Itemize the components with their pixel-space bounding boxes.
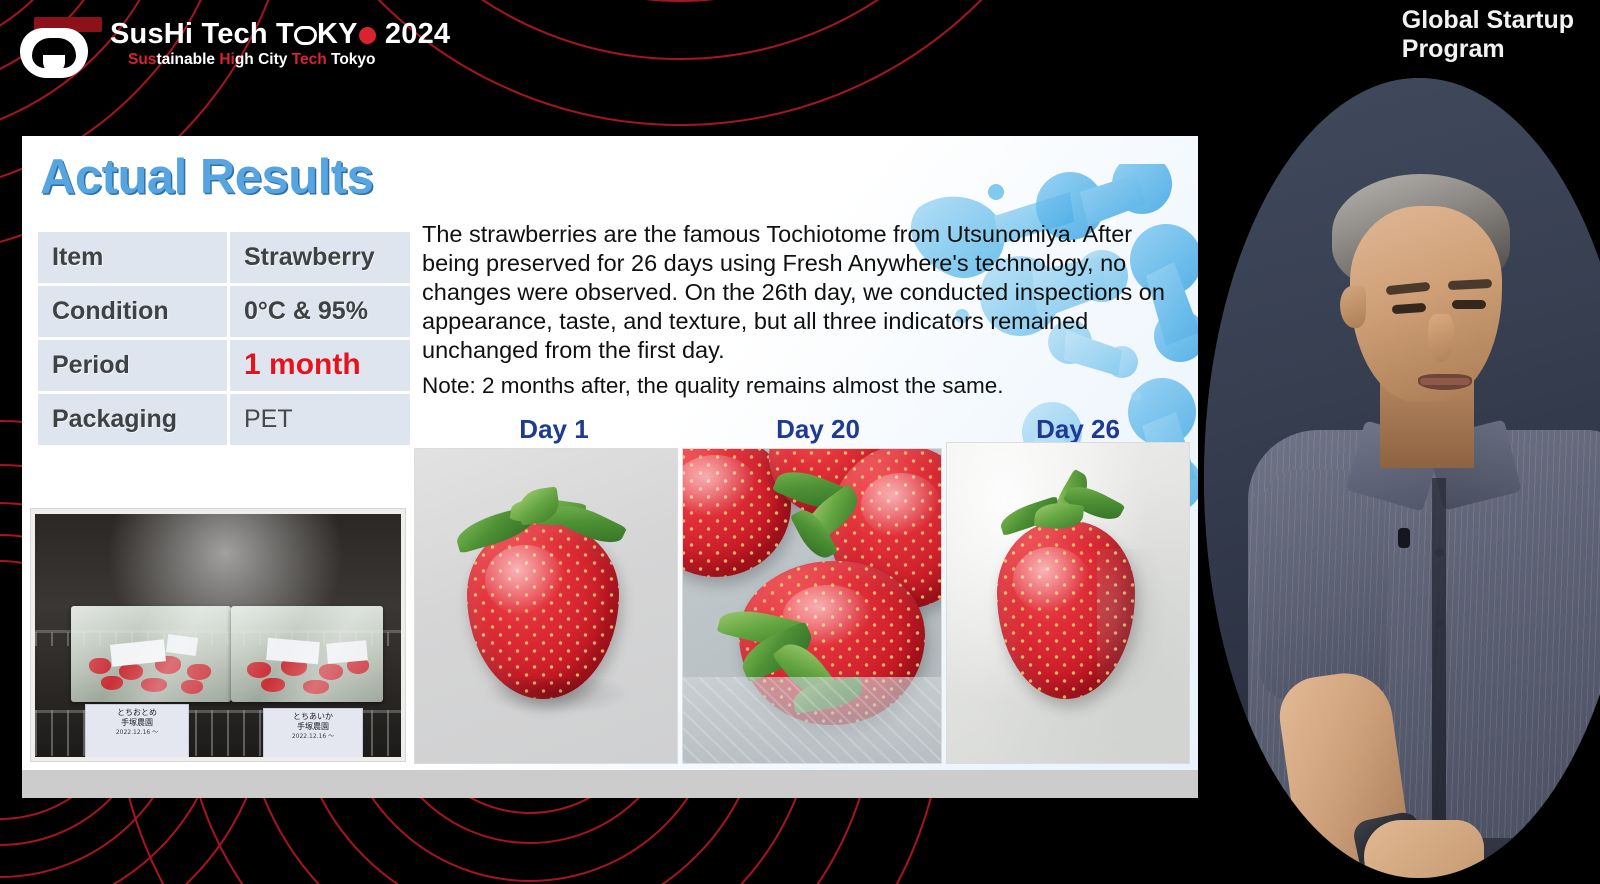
logo-sub-3: gh City [235, 51, 292, 68]
day-label-1: Day 1 [422, 414, 686, 445]
fridge-label-right: とちあいか 手塚農園 2022.12.16 ～ [263, 708, 363, 757]
logo-sub-4: Tech [292, 51, 331, 68]
program-title: Global Startup Program [1402, 6, 1574, 64]
logo-title-part2: KY [317, 18, 358, 50]
table-row: Item Strawberry [38, 232, 410, 283]
table-row: Packaging PET [38, 394, 410, 445]
presenter-video [1204, 78, 1600, 884]
presenter-shirt-placket [1432, 478, 1446, 858]
presenter-sleeve [1260, 470, 1388, 700]
sushi-tech-goggle-logo-icon [20, 28, 88, 78]
presentation-slide: Actual Results Item Strawberry Condition… [22, 136, 1198, 798]
spec-value-packaging: PET [230, 394, 410, 445]
presenter-eye-right [1452, 300, 1486, 309]
spec-value-condition: 0°C & 95% [230, 286, 410, 337]
spec-value-period: 1 month [230, 340, 410, 391]
day-label-26: Day 26 [946, 414, 1198, 445]
logo-sub-0: Sus [128, 51, 156, 68]
logo-title: SusHi Tech TKY 2024 [110, 18, 450, 50]
day1-photo [414, 448, 678, 764]
presenter-hand [1364, 820, 1484, 884]
day20-photo [682, 448, 942, 764]
shirt-button [1435, 690, 1444, 699]
screen: SusHi Tech TKY 2024 Sustainable High Cit… [0, 0, 1600, 884]
slide-title: Actual Results [40, 149, 373, 205]
program-title-line2: Program [1402, 35, 1574, 64]
event-logo: SusHi Tech TKY 2024 Sustainable High Cit… [18, 8, 418, 84]
logo-red-dot-icon [359, 27, 376, 44]
logo-text-block: SusHi Tech TKY 2024 Sustainable High Cit… [110, 18, 450, 69]
logo-subtitle: Sustainable High City Tech Tokyo [128, 51, 450, 69]
logo-sub-5: Tokyo [331, 51, 376, 68]
fridge-label-left: とちおとめ 手塚農園 2022.12.16 ～ [85, 704, 189, 757]
spec-table: Item Strawberry Condition 0°C & 95% Peri… [38, 232, 410, 448]
presenter-nose [1428, 314, 1454, 362]
slide-note: Note: 2 months after, the quality remain… [422, 372, 1190, 400]
lapel-microphone-icon [1398, 528, 1410, 548]
spec-key-condition: Condition [38, 286, 227, 337]
slide-content-area: Actual Results Item Strawberry Condition… [22, 136, 1198, 770]
day26-photo [946, 442, 1190, 764]
logo-title-part1: SusHi Tech T [110, 18, 294, 50]
day-label-20: Day 20 [686, 414, 950, 445]
spec-key-item: Item [38, 232, 227, 283]
logo-sub-1: tainable [156, 51, 219, 68]
slide-body-paragraph: The strawberries are the famous Tochioto… [422, 220, 1190, 365]
presenter-ear [1340, 286, 1366, 328]
table-row: Condition 0°C & 95% [38, 286, 410, 337]
shirt-button [1435, 548, 1444, 557]
spec-key-packaging: Packaging [38, 394, 227, 445]
table-row: Period 1 month [38, 340, 410, 391]
fridge-shelf-photo: とちおとめ 手塚農園 2022.12.16 ～ とちあいか 手塚農園 2022.… [30, 508, 406, 762]
program-title-line1: Global Startup [1402, 6, 1574, 35]
logo-o-ring-icon [294, 26, 317, 45]
spec-key-period: Period [38, 340, 227, 391]
spec-value-item: Strawberry [230, 232, 410, 283]
logo-title-year: 2024 [385, 18, 450, 50]
logo-sub-2: Hi [219, 51, 235, 68]
slide-footer-bar [22, 770, 1198, 798]
shirt-button [1435, 618, 1444, 627]
presenter-lip [1420, 378, 1470, 385]
